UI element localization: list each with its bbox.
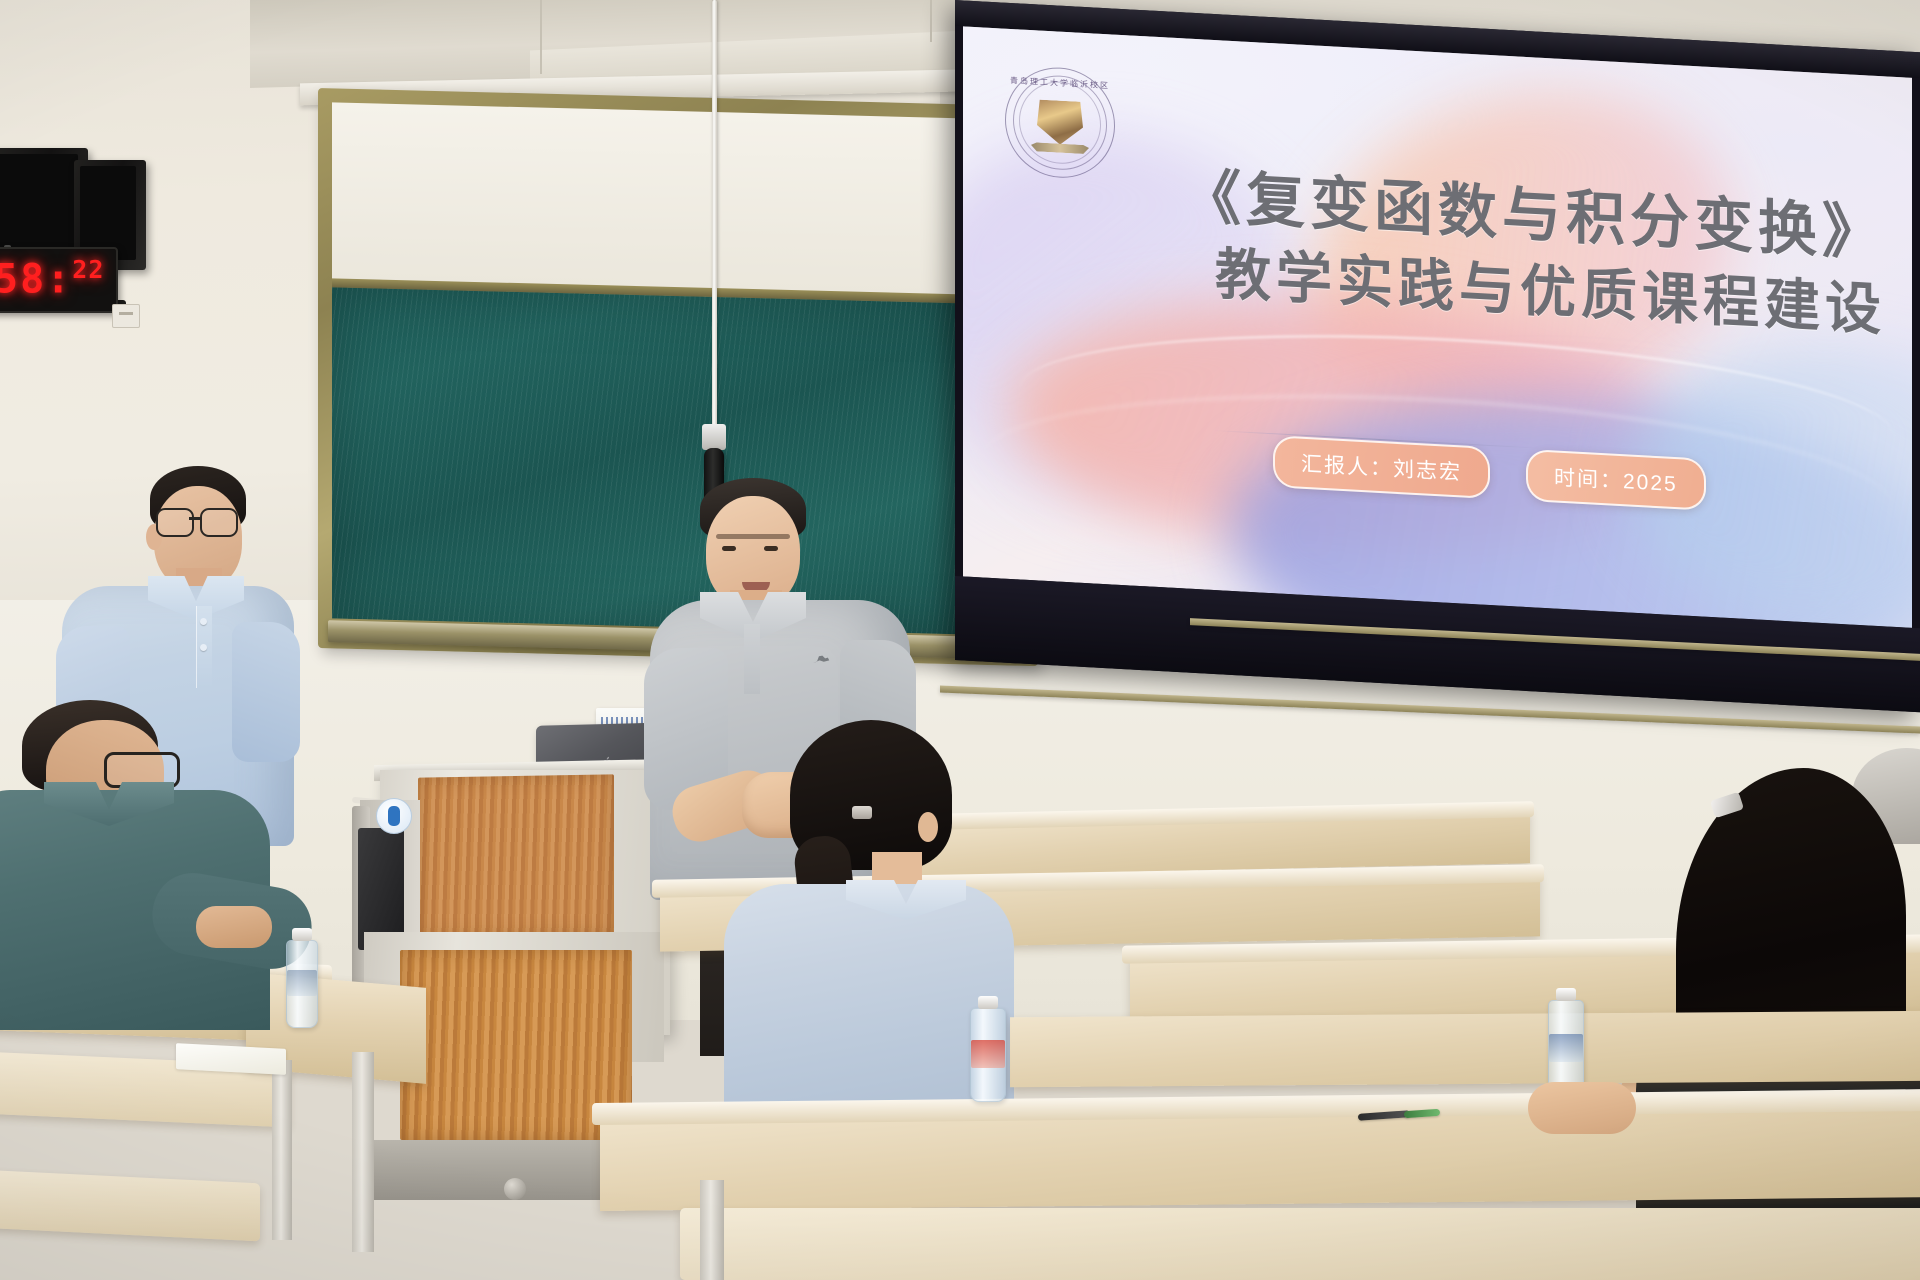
eye-left [722, 546, 736, 551]
glasses-lens-left [156, 508, 194, 537]
hand-on-desk [1528, 1082, 1636, 1134]
clock-main: 58 [0, 256, 46, 302]
crest-shield [1037, 99, 1083, 145]
shirt-button [200, 644, 207, 651]
crest-arc-text: 青岛理工大学临沂校区 [1010, 75, 1110, 91]
glasses-bridge [189, 517, 202, 520]
clock-seconds: 22 [72, 255, 104, 284]
podium-wood-panel-upper [418, 774, 614, 937]
clock-digits: 58:22 [0, 255, 104, 302]
bottle-label [1549, 1034, 1583, 1063]
hair-clip [852, 806, 872, 819]
hanger-wire-3 [930, 0, 932, 42]
microphone-clip [702, 424, 726, 450]
hanger-wire-1 [540, 0, 542, 74]
desk-leg-right [700, 1180, 724, 1280]
sleeve-right [232, 622, 300, 762]
shirt-placket [744, 624, 760, 694]
glasses-icon [156, 508, 242, 533]
microphone-cable [712, 0, 717, 430]
date-badge: 时间：2025 [1526, 449, 1706, 511]
presentation-slide: 青岛理工大学临沂校区 《复变函数与积分变换》 教学实践与优质课程建设 汇报人：刘… [963, 26, 1912, 627]
bottle-cap [292, 928, 312, 941]
desk-leg-left [272, 1060, 292, 1240]
speaker-grill [0, 154, 78, 250]
clock-separator: : [46, 256, 72, 302]
ear [918, 812, 938, 842]
polo-player-logo-icon [810, 652, 832, 666]
desk-mid-right [1010, 1011, 1920, 1087]
water-bottle-centre[interactable] [970, 1008, 1006, 1102]
desk-leg-left-2 [352, 1052, 374, 1252]
wall-digital-clock: 58:22 [0, 247, 118, 313]
classroom-photo-scene: 58:22 青岛理工大学临沂校区 [0, 0, 1920, 1280]
green-chalkboard [318, 88, 1038, 666]
bottle-cap [978, 996, 998, 1009]
water-bottle-left[interactable] [286, 940, 318, 1028]
chalkboard-white-panel [332, 102, 1024, 298]
podium-sticker [376, 798, 412, 834]
chalkboard-surface [332, 287, 1024, 636]
speaker-grill [80, 166, 136, 260]
power-outlet[interactable] [112, 304, 140, 328]
bottle-label [287, 970, 317, 996]
hand [196, 906, 272, 948]
eye-right [764, 546, 778, 551]
shirt-button [200, 618, 207, 625]
projection-screen: 青岛理工大学临沂校区 《复变函数与积分变换》 教学实践与优质课程建设 汇报人：刘… [955, 0, 1920, 712]
glasses-lens-right [200, 508, 238, 537]
eyebrow [716, 534, 790, 539]
podium-knob[interactable] [504, 1178, 526, 1200]
bench-front-right [680, 1208, 1920, 1280]
bench-front-lower [0, 1169, 260, 1242]
bottle-label [971, 1040, 1005, 1068]
bottle-cap [1556, 988, 1576, 1001]
